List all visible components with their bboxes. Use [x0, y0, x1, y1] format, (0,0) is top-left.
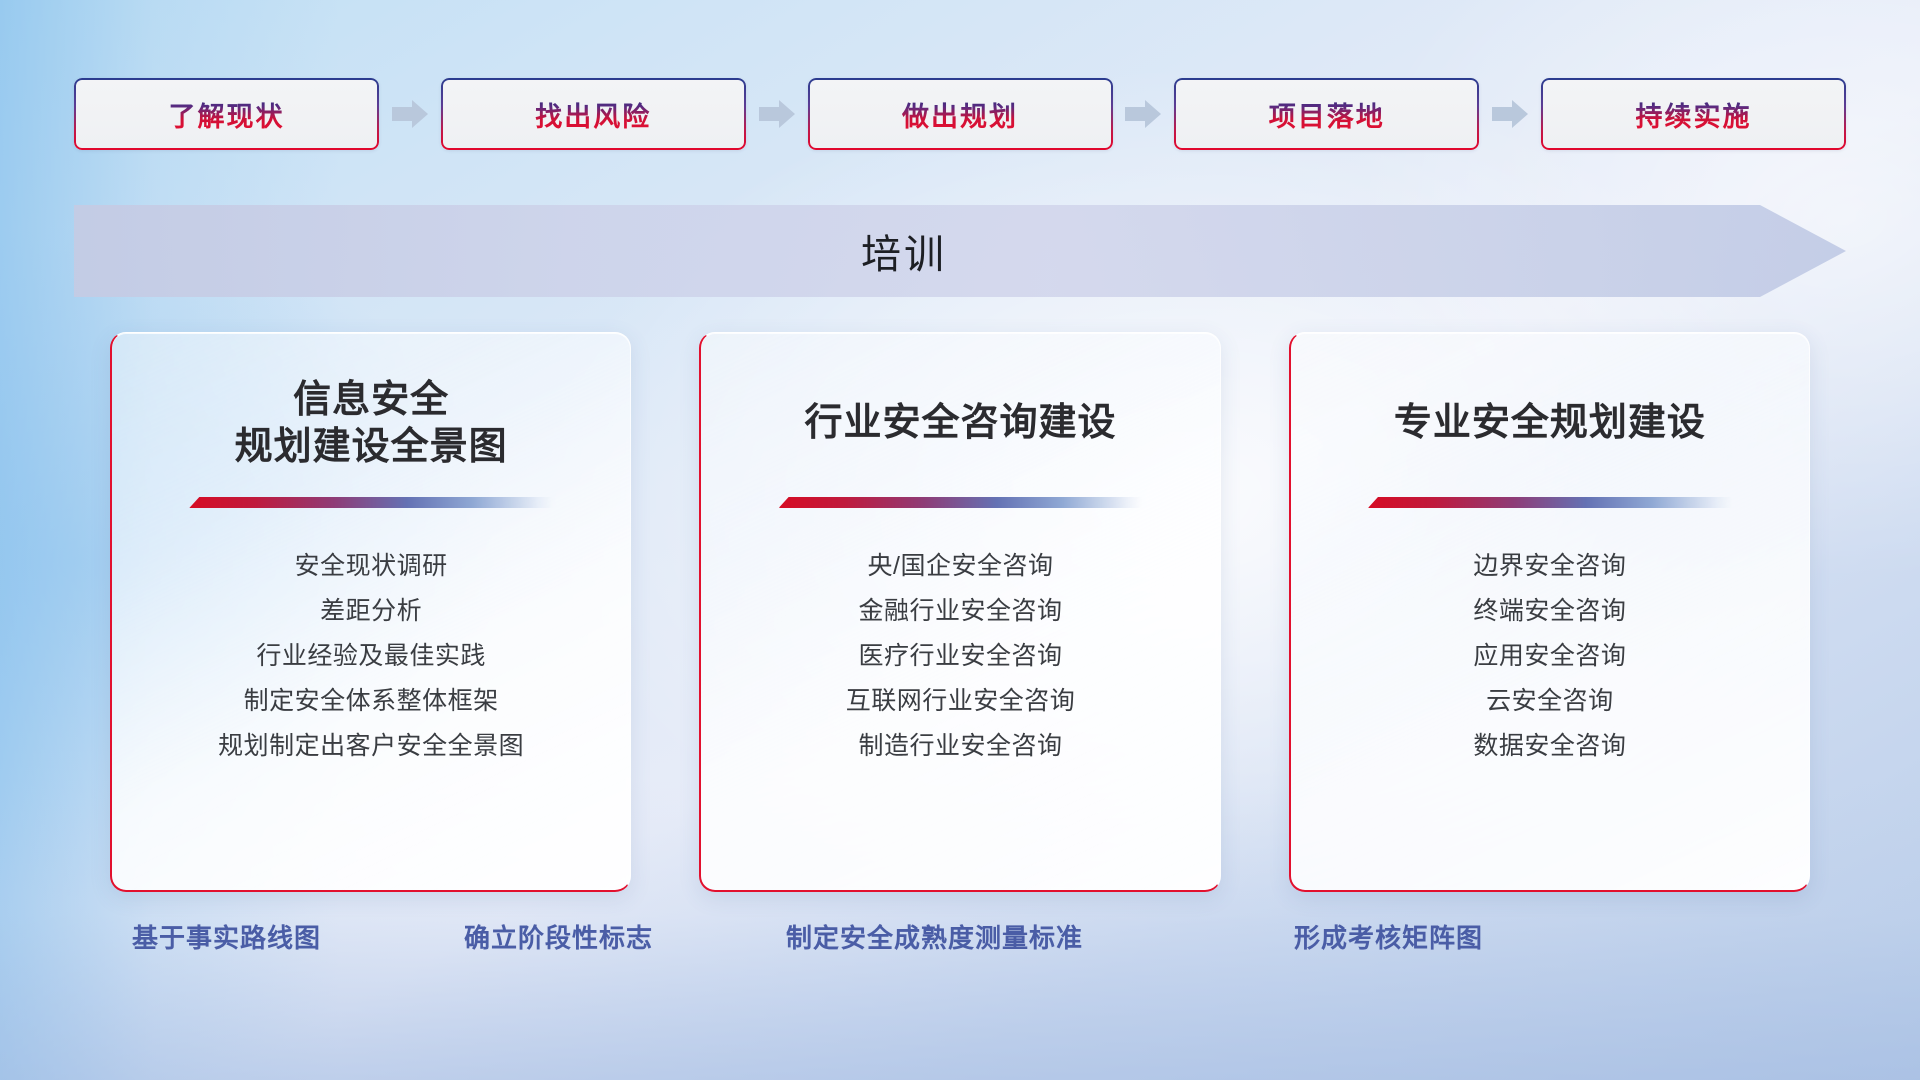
step-separator-2: [746, 78, 808, 150]
title-divider: [1368, 497, 1732, 508]
card-title: 信息安全 规划建设全景图: [235, 375, 508, 473]
step-box-4[interactable]: 项目落地: [1174, 78, 1479, 150]
step-box-1[interactable]: 了解现状: [74, 78, 379, 150]
step-label-4: 项目落地: [1269, 95, 1385, 134]
caption-row: 基于事实路线图 确立阶段性标志 制定安全成熟度测量标准 形成考核矩阵图: [0, 918, 1920, 964]
right-arrow-icon: [1492, 98, 1528, 130]
card-title: 专业安全规划建设: [1394, 375, 1706, 473]
slide-canvas: 了解现状 找出风险 做出规划 项目落地: [0, 0, 1920, 1080]
list-item: 金融行业安全咨询: [727, 589, 1193, 634]
banner-title: 培训: [74, 205, 1734, 297]
list-item: 医疗行业安全咨询: [727, 634, 1193, 679]
card-item-list: 安全现状调研 差距分析 行业经验及最佳实践 制定安全体系整体框架 规划制定出客户…: [138, 544, 604, 769]
caption-maturity-standard: 制定安全成熟度测量标准: [786, 918, 1083, 955]
card-professional-security-planning[interactable]: 专业安全规划建设 边界安全咨询 终端安全咨询 应用安全咨询 云安全咨询 数据安全…: [1289, 332, 1810, 892]
list-item: 差距分析: [138, 589, 604, 634]
step-label-5: 持续实施: [1636, 95, 1752, 134]
list-item: 边界安全咨询: [1317, 544, 1783, 589]
list-item: 安全现状调研: [138, 544, 604, 589]
card-row: 信息安全 规划建设全景图 安全现状调研 差距分析 行业经验及最佳实践 制定安全体…: [110, 332, 1810, 892]
list-item: 云安全咨询: [1317, 679, 1783, 724]
right-arrow-icon: [1125, 98, 1161, 130]
list-item: 规划制定出客户安全全景图: [138, 724, 604, 769]
list-item: 制定安全体系整体框架: [138, 679, 604, 724]
card-item-list: 央/国企安全咨询 金融行业安全咨询 医疗行业安全咨询 互联网行业安全咨询 制造行…: [727, 544, 1193, 769]
list-item: 互联网行业安全咨询: [727, 679, 1193, 724]
list-item: 央/国企安全咨询: [727, 544, 1193, 589]
card-information-security-blueprint[interactable]: 信息安全 规划建设全景图 安全现状调研 差距分析 行业经验及最佳实践 制定安全体…: [110, 332, 631, 892]
caption-milestones: 确立阶段性标志: [464, 918, 653, 955]
card-title-line: 规划建设全景图: [235, 424, 508, 471]
card-item-list: 边界安全咨询 终端安全咨询 应用安全咨询 云安全咨询 数据安全咨询: [1317, 544, 1783, 769]
step-box-2[interactable]: 找出风险: [441, 78, 746, 150]
step-label-2: 找出风险: [535, 95, 651, 134]
list-item: 应用安全咨询: [1317, 634, 1783, 679]
caption-assessment-matrix: 形成考核矩阵图: [1294, 918, 1483, 955]
right-arrow-icon: [392, 98, 428, 130]
card-industry-security-consulting[interactable]: 行业安全咨询建设 央/国企安全咨询 金融行业安全咨询 医疗行业安全咨询 互联网行…: [699, 332, 1220, 892]
list-item: 数据安全咨询: [1317, 724, 1783, 769]
training-banner: 培训: [74, 205, 1846, 297]
step-label-3: 做出规划: [902, 95, 1018, 134]
step-separator-1: [379, 78, 441, 150]
card-title: 行业安全咨询建设: [804, 375, 1116, 473]
step-separator-4: [1479, 78, 1541, 150]
title-divider: [779, 497, 1143, 508]
right-arrow-icon: [759, 98, 795, 130]
step-box-5[interactable]: 持续实施: [1541, 78, 1846, 150]
process-step-row: 了解现状 找出风险 做出规划 项目落地: [74, 78, 1846, 150]
step-label-1: 了解现状: [169, 95, 285, 134]
list-item: 行业经验及最佳实践: [138, 634, 604, 679]
step-box-3[interactable]: 做出规划: [808, 78, 1113, 150]
list-item: 终端安全咨询: [1317, 589, 1783, 634]
card-title-line: 行业安全咨询建设: [804, 400, 1116, 447]
card-title-line: 专业安全规划建设: [1394, 400, 1706, 447]
title-divider: [189, 497, 553, 508]
card-title-line: 信息安全: [235, 377, 508, 424]
list-item: 制造行业安全咨询: [727, 724, 1193, 769]
step-separator-3: [1113, 78, 1175, 150]
caption-roadmap: 基于事实路线图: [132, 918, 321, 955]
